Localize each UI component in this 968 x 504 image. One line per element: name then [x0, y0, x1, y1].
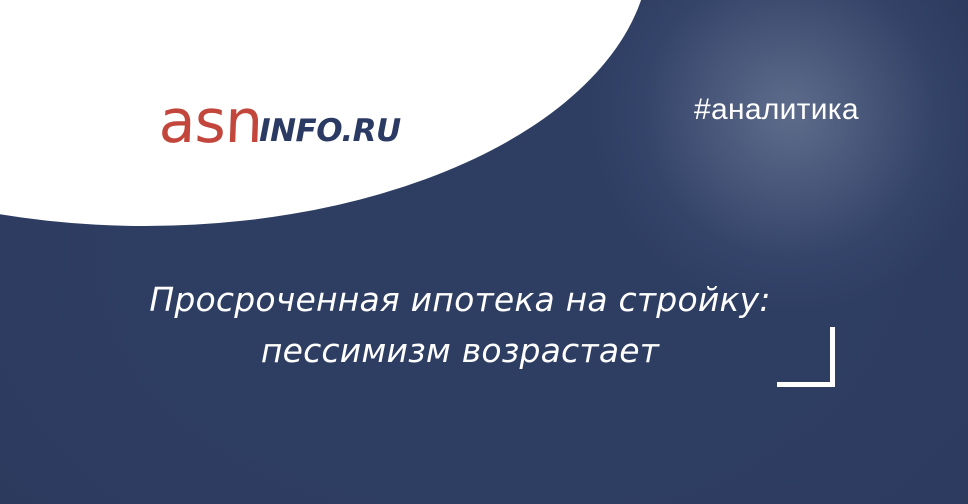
- asninfo-logo[interactable]: aSNINFO.RU: [159, 92, 401, 152]
- banner-card: aSNINFO.RU #аналитика Просроченная ипоте…: [0, 0, 968, 504]
- corner-bracket-horizontal-bar: [777, 382, 835, 387]
- headline-line-2: пессимизм возрастает: [60, 325, 860, 376]
- hashtag-label[interactable]: #аналитика: [694, 92, 859, 128]
- headline-title: Просроченная ипотека на стройку: пессими…: [60, 274, 860, 376]
- corner-bracket-decoration: [777, 327, 835, 387]
- logo-suffix-inforu: INFO.RU: [259, 116, 401, 147]
- headline-line-1: Просроченная ипотека на стройку:: [60, 274, 860, 325]
- logo-mark-asn: aSN: [158, 92, 263, 152]
- corner-bracket-vertical-bar: [830, 327, 835, 387]
